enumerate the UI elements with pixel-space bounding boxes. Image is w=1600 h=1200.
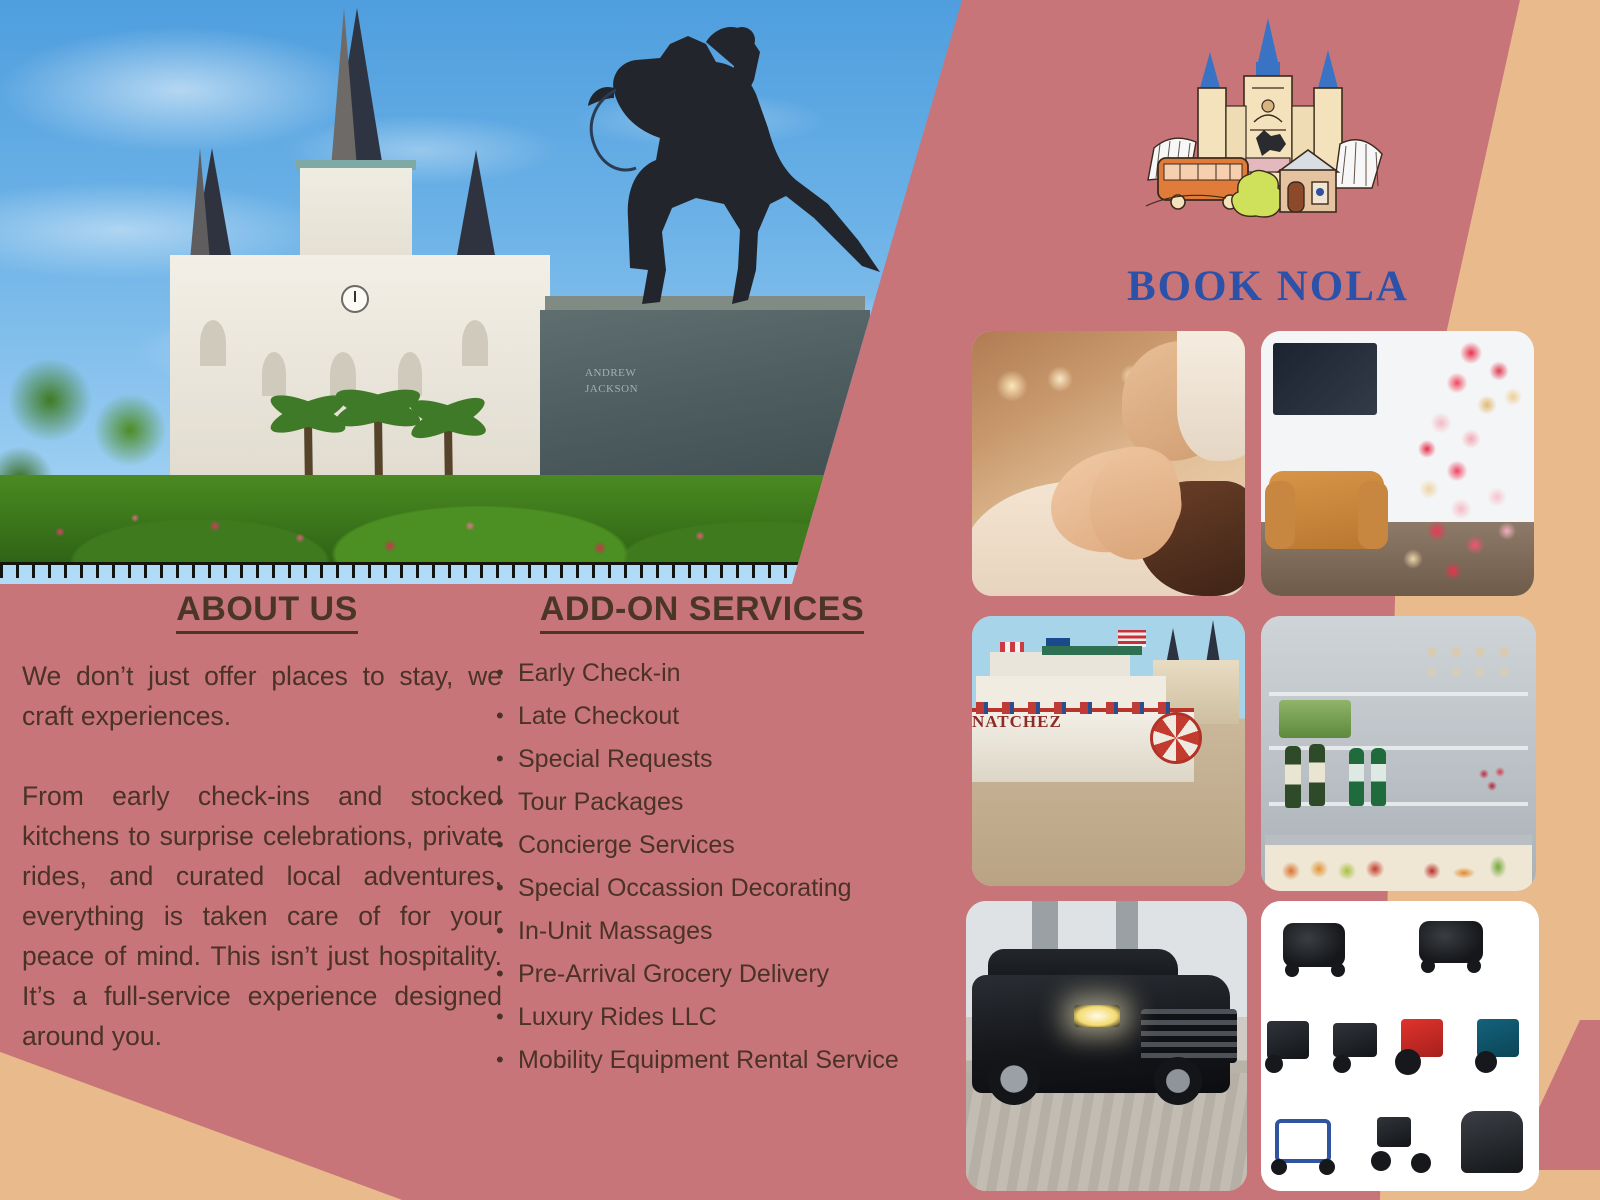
brand-logo[interactable]: BOOK NOLA xyxy=(1118,10,1418,320)
scooter-wheel xyxy=(1467,959,1481,973)
mobility-scooter xyxy=(1283,923,1345,967)
scooter-wheel xyxy=(1421,959,1435,973)
balloon-scene xyxy=(1261,331,1534,596)
brand-name: BOOK NOLA xyxy=(1118,262,1418,311)
wheelchair-wheel xyxy=(1395,1049,1421,1075)
suv-wheel xyxy=(988,1053,1040,1105)
fruit-drawer xyxy=(1275,851,1393,885)
salad-containers xyxy=(1279,700,1351,738)
add-on-services-section: ADD-ON SERVICES Early Check-in Late Chec… xyxy=(492,590,912,1086)
suv-grille xyxy=(1141,1009,1237,1063)
rollator-walker xyxy=(1275,1119,1331,1163)
mobility-scooter xyxy=(1419,921,1483,963)
bowl-of-strawberries xyxy=(1472,764,1520,794)
wheelchair-wheel xyxy=(1475,1051,1497,1073)
list-item: Special Occassion Decorating xyxy=(492,871,912,906)
fridge-scene xyxy=(1261,616,1536,891)
about-paragraph-1: We don’t just offer places to stay, we c… xyxy=(22,656,502,736)
walker-wheel xyxy=(1271,1159,1287,1175)
knee-scooter-wheel xyxy=(1371,1151,1391,1171)
paddle-wheel xyxy=(1150,712,1202,764)
wine-bottle xyxy=(1309,744,1325,806)
list-item: Early Check-in xyxy=(492,656,912,691)
fridge-shelf xyxy=(1269,692,1528,696)
list-item: Concierge Services xyxy=(492,828,912,863)
walker-wheel xyxy=(1319,1159,1335,1175)
sparkling-water-bottle xyxy=(1349,748,1364,806)
services-list: Early Check-in Late Checkout Special Req… xyxy=(492,656,912,1078)
list-item: Late Checkout xyxy=(492,699,912,734)
steamboat-name-label: NATCHEZ xyxy=(972,712,1062,732)
fridge-shelf xyxy=(1269,802,1528,806)
wheelchair-wheel xyxy=(1265,1055,1283,1073)
wine-bottle xyxy=(1285,746,1301,808)
power-wheelchair xyxy=(1267,1021,1309,1059)
knee-scooter-wheel xyxy=(1411,1153,1431,1173)
therapist-sleeve xyxy=(1177,331,1245,461)
about-us-heading: ABOUT US xyxy=(176,590,358,634)
list-item: Special Requests xyxy=(492,742,912,777)
mobility-equipment-photo xyxy=(1261,901,1539,1191)
brochure-page: ANDREW JACKSON xyxy=(0,0,1600,1200)
steamboat-upper-deck xyxy=(990,652,1130,678)
folding-wheelchair xyxy=(1333,1023,1377,1057)
andrew-jackson-statue-icon xyxy=(510,18,890,318)
services-title-row: ADD-ON SERVICES xyxy=(492,590,912,634)
list-item: Tour Packages xyxy=(492,785,912,820)
american-flag-icon xyxy=(1118,630,1146,647)
steamboat-scene: NATCHEZ xyxy=(972,616,1245,886)
about-us-section: ABOUT US We don’t just offer places to s… xyxy=(22,590,502,1056)
about-us-title-row: ABOUT US xyxy=(22,590,502,634)
balloon-garland xyxy=(1261,331,1534,596)
list-item: Pre-Arrival Grocery Delivery xyxy=(492,957,912,992)
wheelchair-wheel xyxy=(1333,1055,1351,1073)
steamboat-natchez-photo: NATCHEZ xyxy=(972,616,1245,886)
sparkling-water-bottle xyxy=(1371,748,1386,806)
suv-headlight xyxy=(1074,1005,1120,1027)
vegetable-drawer xyxy=(1416,851,1524,885)
massage-scene xyxy=(972,331,1245,596)
luxury-suv-photo xyxy=(966,901,1247,1191)
list-item: In-Unit Massages xyxy=(492,914,912,949)
scooter-wheel xyxy=(1331,963,1345,977)
monument-plaque-text: ANDREW JACKSON xyxy=(585,365,675,411)
scooter-wheel xyxy=(1285,963,1299,977)
suv-wheel xyxy=(1154,1057,1202,1105)
lift-recliner xyxy=(1461,1111,1523,1173)
list-item: Mobility Equipment Rental Service xyxy=(492,1043,912,1078)
cathedral-arch-window xyxy=(200,320,226,366)
cathedral-center-spire-highlight xyxy=(331,8,357,168)
about-paragraph-2: From early check-ins and stocked kitchen… xyxy=(22,776,502,1056)
cathedral-clock-icon xyxy=(341,285,369,313)
stocked-fridge-photo xyxy=(1261,616,1536,891)
knee-scooter xyxy=(1377,1117,1411,1147)
new-orleans-cathedral-streetcar-logo-icon xyxy=(1118,10,1418,260)
mobility-equipment-grid xyxy=(1261,901,1539,1191)
add-on-services-heading: ADD-ON SERVICES xyxy=(540,590,864,634)
steamboat-canopy xyxy=(1042,646,1142,655)
suv-scene xyxy=(966,901,1247,1191)
produce-drawers xyxy=(1265,835,1532,891)
balloon-decor-photo xyxy=(1261,331,1534,596)
cathedral-arch-window xyxy=(462,320,488,366)
in-unit-massage-photo xyxy=(972,331,1245,596)
egg-tray xyxy=(1418,640,1528,686)
fridge-shelf xyxy=(1269,746,1528,750)
list-item: Luxury Rides LLC xyxy=(492,1000,912,1035)
